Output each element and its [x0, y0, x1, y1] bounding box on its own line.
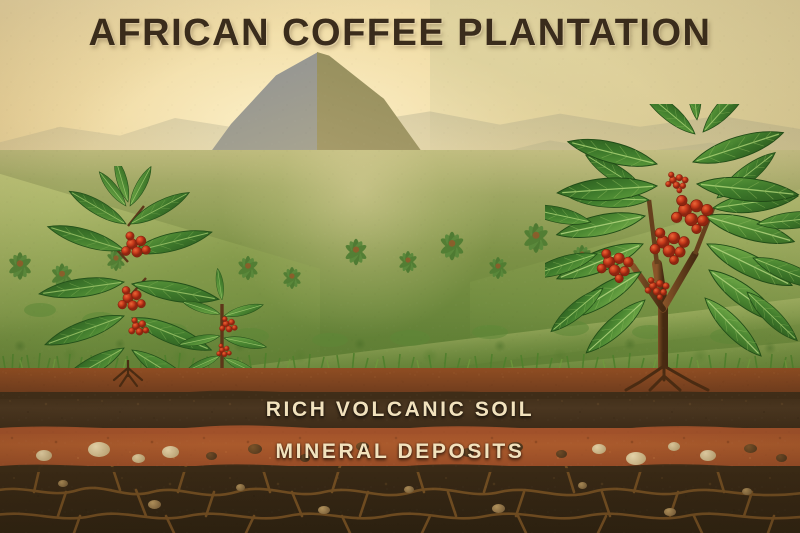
page-title: AFRICAN COFFEE PLANTATION	[0, 12, 800, 55]
coffee-plant-left-companion	[178, 262, 268, 372]
roots-right-plant	[600, 360, 760, 394]
label-mineral-deposits: MINERAL DEPOSITS	[0, 440, 800, 464]
roots-left-plant	[80, 360, 200, 390]
label-rich-volcanic-soil: RICH VOLCANIC SOIL	[0, 398, 800, 422]
poster-scene: RICH VOLCANIC SOIL MINERAL DEPOSITS AFRI…	[0, 0, 800, 533]
coffee-plant-right	[545, 104, 800, 380]
